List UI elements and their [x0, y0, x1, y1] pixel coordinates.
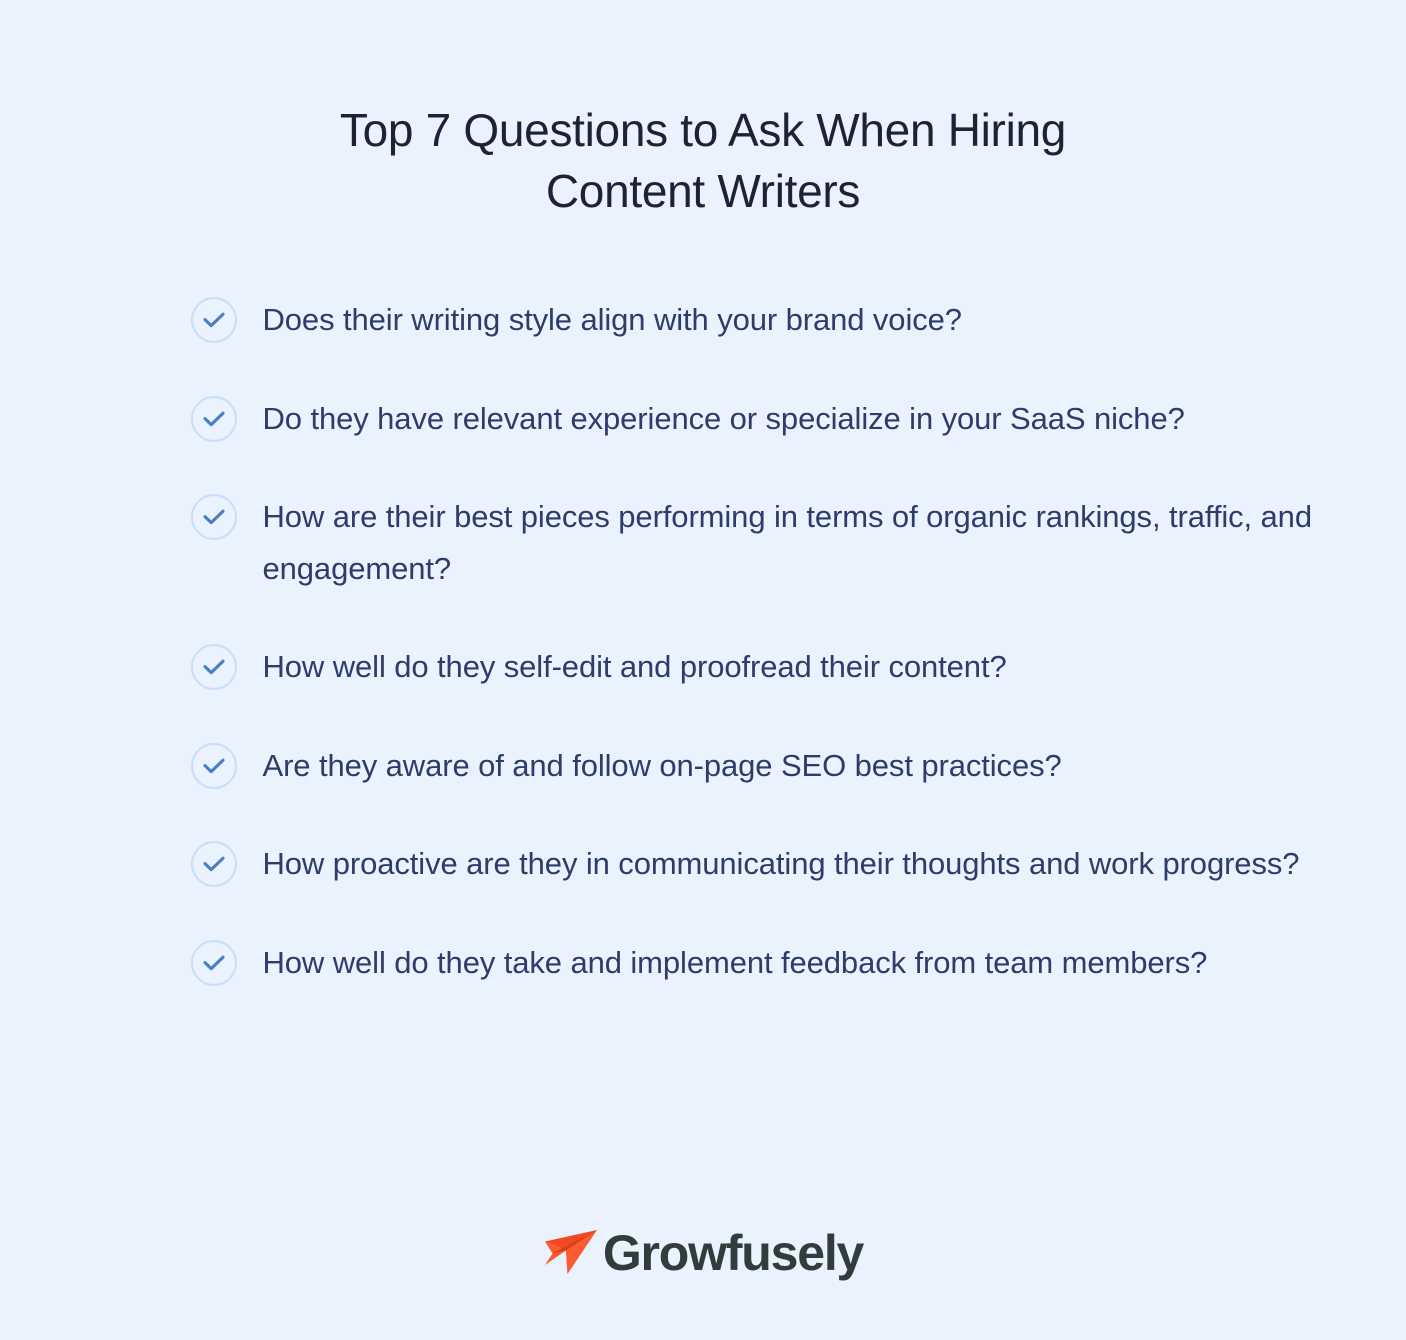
list-item: How are their best pieces performing in … [191, 491, 1316, 594]
brand-name: Growfusely [603, 1228, 863, 1278]
list-item-label: How proactive are they in communicating … [263, 838, 1300, 889]
list-item-label: Are they aware of and follow on-page SEO… [263, 740, 1062, 791]
list-item: Are they aware of and follow on-page SEO… [191, 740, 1316, 791]
check-circle-icon [191, 396, 237, 442]
list-item-label: How are their best pieces performing in … [263, 491, 1316, 594]
list-item: How proactive are they in communicating … [191, 838, 1316, 889]
list-item-label: How well do they take and implement feed… [263, 937, 1208, 988]
page-title-line-2: Content Writers [546, 165, 860, 217]
page-title-line-1: Top 7 Questions to Ask When Hiring [340, 104, 1066, 156]
list-item-label: Do they have relevant experience or spec… [263, 393, 1185, 444]
questions-list: Does their writing style align with your… [91, 294, 1316, 988]
list-item: Do they have relevant experience or spec… [191, 393, 1316, 444]
check-circle-icon [191, 297, 237, 343]
check-circle-icon [191, 841, 237, 887]
list-item: Does their writing style align with your… [191, 294, 1316, 345]
check-circle-icon [191, 644, 237, 690]
paper-plane-icon [543, 1228, 599, 1278]
infographic-canvas: Top 7 Questions to Ask When HiringConten… [0, 0, 1406, 1340]
brand-logo: Growfusely [0, 1228, 1406, 1278]
list-item: How well do they take and implement feed… [191, 937, 1316, 988]
list-item-label: Does their writing style align with your… [263, 294, 962, 345]
list-item: How well do they self-edit and proofread… [191, 641, 1316, 692]
check-circle-icon [191, 494, 237, 540]
title-block: Top 7 Questions to Ask When HiringConten… [263, 100, 1143, 222]
check-circle-icon [191, 743, 237, 789]
list-item-label: How well do they self-edit and proofread… [263, 641, 1007, 692]
check-circle-icon [191, 940, 237, 986]
page-title: Top 7 Questions to Ask When HiringConten… [263, 100, 1143, 222]
